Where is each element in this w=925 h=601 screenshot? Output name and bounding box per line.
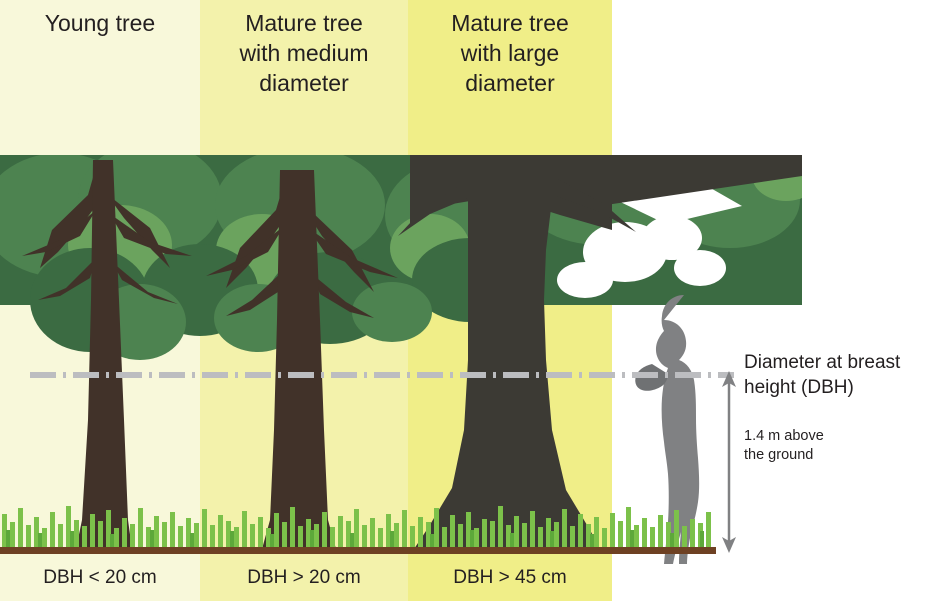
header-medium-line1: Mature tree [200,8,408,38]
dbh-annotation-line1: Diameter at breast [744,350,924,375]
header-large-line1: Mature tree [408,8,612,38]
column-footer-young: DBH < 20 cm [0,566,200,590]
header-large-line2: with large [408,38,612,68]
column-footer-medium: DBH > 20 cm [200,566,408,590]
height-arrow [722,371,736,553]
height-annotation: 1.4 m above the ground [744,427,904,465]
grass-band [2,506,711,549]
header-medium-line3: diameter [200,68,408,98]
header-medium-line2: with medium [200,38,408,68]
header-young-line1: Young tree [0,8,200,38]
column-header-medium: Mature tree with medium diameter [200,8,408,98]
dbh-diagram: Young tree Mature tree with medium diame… [0,0,925,601]
grass-blades [2,506,711,549]
height-annotation-line2: the ground [744,446,904,465]
dbh-annotation-line2: height (DBH) [744,375,924,400]
column-header-young: Young tree [0,8,200,38]
column-footer-large: DBH > 45 cm [408,566,612,590]
header-large-line3: diameter [408,68,612,98]
dbh-annotation: Diameter at breast height (DBH) [744,350,924,400]
height-annotation-line1: 1.4 m above [744,427,904,446]
column-header-large: Mature tree with large diameter [408,8,612,98]
ground-line [0,547,716,554]
